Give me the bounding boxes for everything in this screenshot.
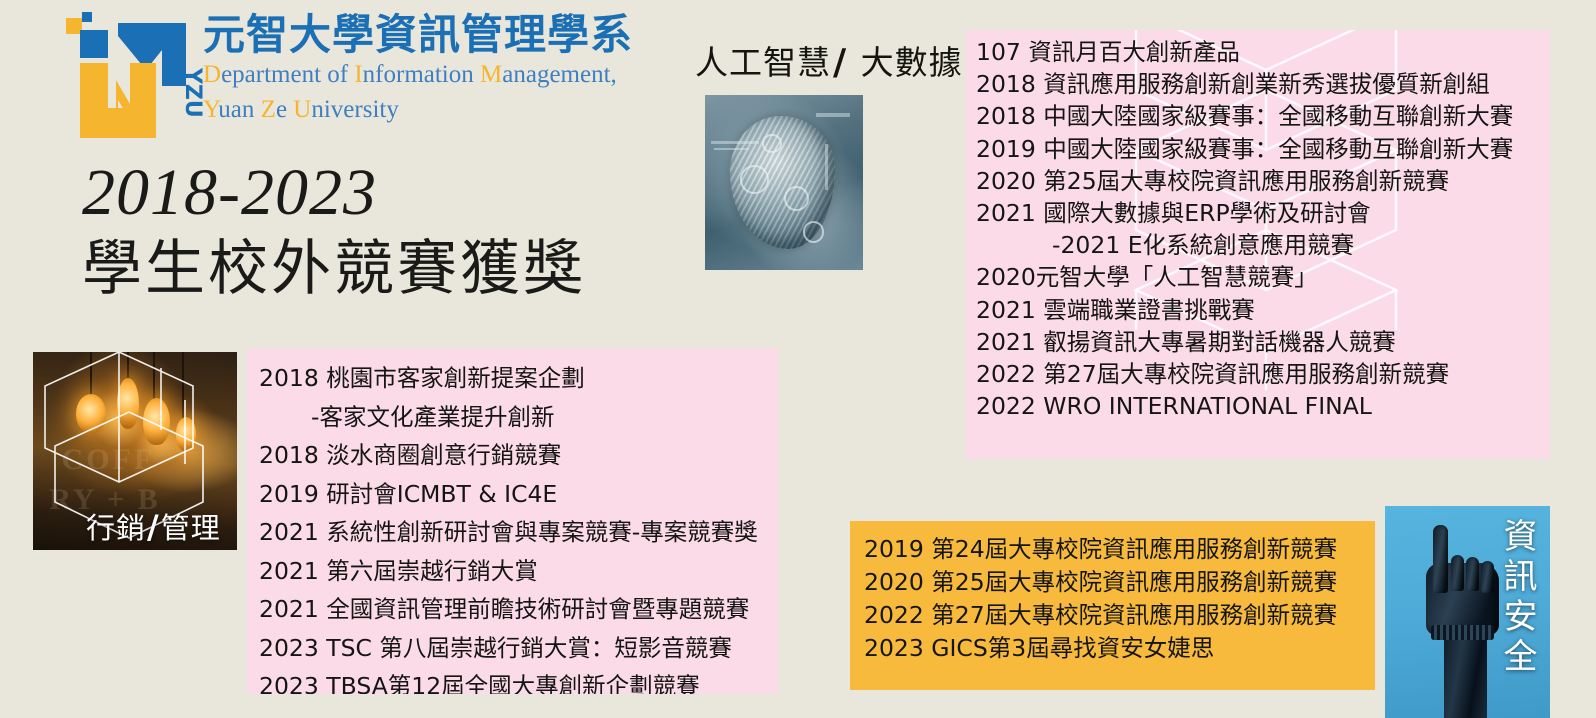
security-awards-panel: 2019 第24屆大專校院資訊應用服務創新競賽 2020 第25屆大專校院資訊應… [850,521,1375,690]
section-heading-ai: 人工智慧/ 大數據 [695,36,965,84]
robot-finger-pinky [1481,561,1494,593]
ai-awards-panel: 107 資訊月百大創新產品 2018 資訊應用服務創新創業新秀選拔優質新創組 2… [966,30,1550,459]
ai-circle-4 [762,134,782,154]
ai-awards-list: 107 資訊月百大創新產品 2018 資訊應用服務創新創業新秀選拔優質新創組 2… [976,36,1550,422]
ai-head-circuit-image [705,95,863,270]
list-item: 2018 淡水商圈創意行銷競賽 [259,436,778,475]
list-item: 2020元智大學「人工智慧競賽」 [976,261,1550,293]
list-item: 2023 GICS第3屆尋找資安女婕思 [864,632,1375,665]
title-heading: 學生校外競賽獲獎 [82,233,702,305]
logo-vertical-text: YZU [180,67,205,118]
robot-finger-index [1433,525,1448,593]
list-item: 2021 系統性創新研討會與專案競賽-專案競賽獎 [259,513,778,552]
list-item: -客家文化產業提升創新 [259,398,778,437]
list-item: 2020 第25屆大專校院資訊應用服務創新競賽 [864,566,1375,599]
caption-mkt-part1: 行銷 [86,511,146,545]
marketing-tile-caption: 行銷/管理 [86,505,221,547]
list-item: 2021 雲端職業證書挑戰賽 [976,294,1550,326]
list-item: 2018 資訊應用服務創新創業新秀選拔優質新創組 [976,68,1550,100]
list-item: 2020 第25屆大專校院資訊應用服務創新競賽 [976,165,1550,197]
list-item: 2021 第六屆崇越行銷大賞 [259,552,778,591]
ai-bar-3 [816,113,851,117]
ai-circle-1 [740,165,769,194]
ai-bar-2 [714,148,749,150]
list-item: 2022 第27屆大專校院資訊應用服務創新競賽 [864,599,1375,632]
list-item: 107 資訊月百大創新產品 [976,36,1550,68]
logo-text-block: 元智大學資訊管理學系 Department of Information Man… [203,14,703,125]
heading-ai-part1: 人工智慧 [695,43,831,82]
list-item: 2021 全國資訊管理前瞻技術研討會暨專題競賽 [259,590,778,629]
ai-bar-1 [711,141,758,144]
robot-wrist-cuff [1431,625,1494,640]
list-item: 2021 叡揚資訊大專暑期對話機器人競賽 [976,326,1550,358]
ai-circle-2 [784,186,809,211]
ai-circle-3 [803,221,824,243]
ai-bar-4 [825,144,828,190]
marketing-awards-panel: 2018 桃園市客家創新提案企劃 -客家文化產業提升創新 2018 淡水商圈創意… [247,348,778,694]
security-awards-list: 2019 第24屆大專校院資訊應用服務創新競賽 2020 第25屆大專校院資訊應… [864,533,1375,665]
list-item: 2023 TBSA第12屆全國大專創新企劃競賽 [259,667,778,694]
yzu-im-logo-icon: YZU [58,8,208,158]
logo-chinese-name: 元智大學資訊管理學系 [203,14,703,56]
list-item: 2018 桃園市客家創新提案企劃 [259,359,778,398]
list-item: 2022 WRO INTERNATIONAL FINAL [976,390,1550,422]
caption-mkt-slash: / [146,508,161,546]
title-year-range: 2018-2023 [82,158,702,227]
list-item: 2021 國際大數據與ERP學術及研討會 [976,197,1550,229]
poster-canvas: YZU 元智大學資訊管理學系 Department of Information… [0,0,1596,718]
robot-finger-ring [1466,557,1479,591]
list-item: 2018 中國大陸國家級賽事：全國移動互聯創新大賽 [976,100,1550,132]
department-logo: YZU 元智大學資訊管理學系 Department of Information… [58,8,658,158]
poster-title: 2018-2023 學生校外競賽獲獎 [82,158,702,305]
caption-mkt-part2: 管理 [161,511,221,545]
list-item: 2019 中國大陸國家級賽事：全國移動互聯創新大賽 [976,133,1550,165]
robot-finger-middle [1451,555,1464,591]
list-item: 2022 第27屆大專校院資訊應用服務創新競賽 [976,358,1550,390]
security-tile-caption: 資訊安全 [1495,518,1539,678]
marketing-awards-list: 2018 桃園市客家創新提案企劃 -客家文化產業提升創新 2018 淡水商圈創意… [259,359,778,694]
list-item: -2021 E化系統創意應用競賽 [976,229,1550,261]
heading-ai-part2: 大數據 [849,43,963,82]
heading-ai-slash: / [831,42,849,83]
list-item: 2019 研討會ICMBT & IC4E [259,475,778,514]
logo-english-line2: Yuan Ze University [203,95,703,126]
list-item: 2023 TSC 第八屆崇越行銷大賞：短影音競賽 [259,629,778,668]
logo-english-line1: Department of Information Management, [203,60,703,91]
list-item: 2019 第24屆大專校院資訊應用服務創新競賽 [864,533,1375,566]
